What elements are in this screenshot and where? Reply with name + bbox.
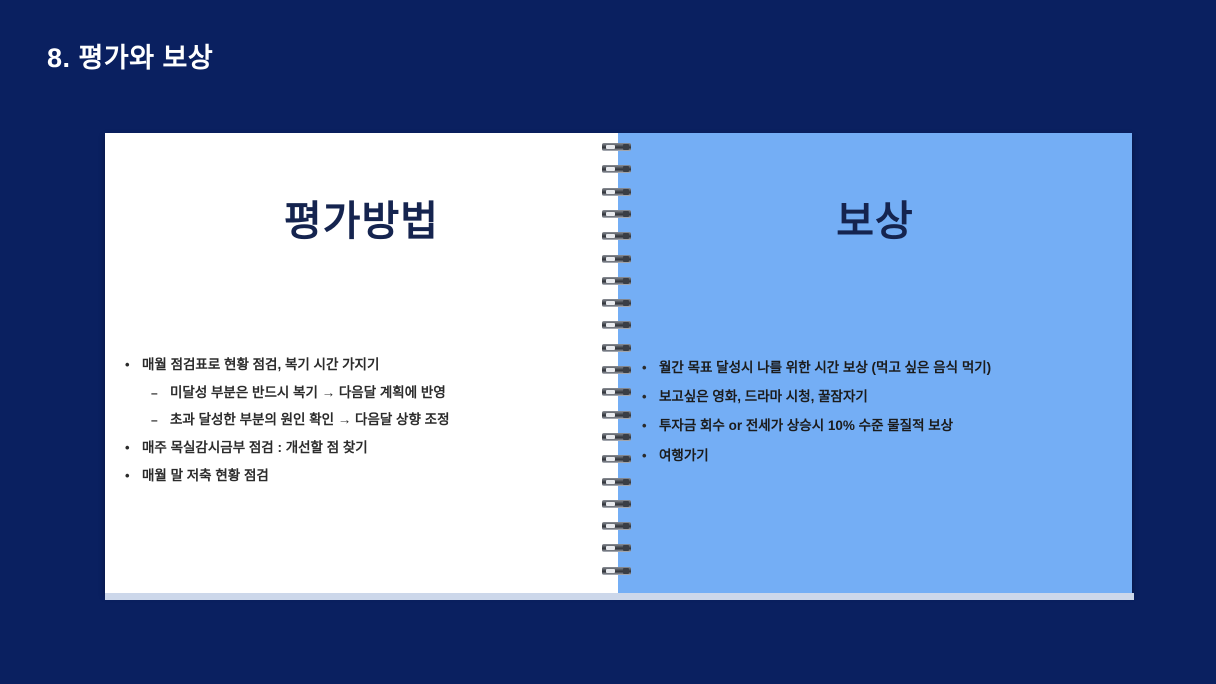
notebook-card: 평가방법 •매월 점검표로 현황 점검, 복기 시간 가지기–미달성 부분은 반… [105, 133, 1132, 593]
list-item: –미달성 부분은 반드시 복기 → 다음달 계획에 반영 [151, 386, 596, 400]
list-item-label: 매주 목실감시금부 점검 : 개선할 점 찾기 [142, 441, 368, 455]
list-item: •투자금 회수 or 전세가 상승시 10% 수준 물질적 보상 [642, 419, 1110, 433]
page-title: 8. 평가와 보상 [47, 36, 213, 75]
bullet-dot-icon: • [642, 361, 659, 375]
list-item: •매월 점검표로 현황 점검, 복기 시간 가지기 [125, 358, 596, 372]
notebook-page-left: 평가방법 •매월 점검표로 현황 점검, 복기 시간 가지기–미달성 부분은 반… [105, 133, 618, 593]
list-item: •보고싶은 영화, 드라마 시청, 꿀잠자기 [642, 390, 1110, 404]
notebook-page-right: 보상 •월간 목표 달성시 나를 위한 시간 보상 (먹고 싶은 음식 먹기)•… [618, 133, 1132, 593]
list-item: •매주 목실감시금부 점검 : 개선할 점 찾기 [125, 441, 596, 455]
bullet-dot-icon: • [642, 449, 659, 463]
dash-icon: – [151, 414, 170, 427]
list-item-label: 초과 달성한 부분의 원인 확인 → 다음달 상향 조정 [170, 413, 450, 427]
list-item: •매월 말 저축 현황 점검 [125, 469, 596, 483]
list-item: •월간 목표 달성시 나를 위한 시간 보상 (먹고 싶은 음식 먹기) [642, 361, 1110, 375]
bullet-dot-icon: • [125, 441, 142, 455]
bullet-dot-icon: • [642, 390, 659, 404]
dash-icon: – [151, 387, 170, 400]
right-page-heading: 보상 [618, 187, 1132, 247]
bullet-dot-icon: • [125, 358, 142, 372]
left-page-heading: 평가방법 [105, 187, 618, 247]
right-page-bullet-list: •월간 목표 달성시 나를 위한 시간 보상 (먹고 싶은 음식 먹기)•보고싶… [618, 361, 1132, 478]
bullet-dot-icon: • [125, 469, 142, 483]
bullet-dot-icon: • [642, 419, 659, 433]
list-item-label: 투자금 회수 or 전세가 상승시 10% 수준 물질적 보상 [659, 419, 953, 433]
list-item-label: 여행가기 [659, 449, 709, 463]
left-page-bullet-list: •매월 점검표로 현황 점검, 복기 시간 가지기–미달성 부분은 반드시 복기… [105, 358, 618, 497]
list-item-label: 매월 말 저축 현황 점검 [142, 469, 269, 483]
list-item-label: 미달성 부분은 반드시 복기 → 다음달 계획에 반영 [170, 386, 446, 400]
list-item-label: 매월 점검표로 현황 점검, 복기 시간 가지기 [142, 358, 379, 372]
list-item: –초과 달성한 부분의 원인 확인 → 다음달 상향 조정 [151, 413, 596, 427]
list-item: •여행가기 [642, 449, 1110, 463]
list-item-label: 월간 목표 달성시 나를 위한 시간 보상 (먹고 싶은 음식 먹기) [659, 361, 991, 375]
list-item-label: 보고싶은 영화, 드라마 시청, 꿀잠자기 [659, 390, 868, 404]
